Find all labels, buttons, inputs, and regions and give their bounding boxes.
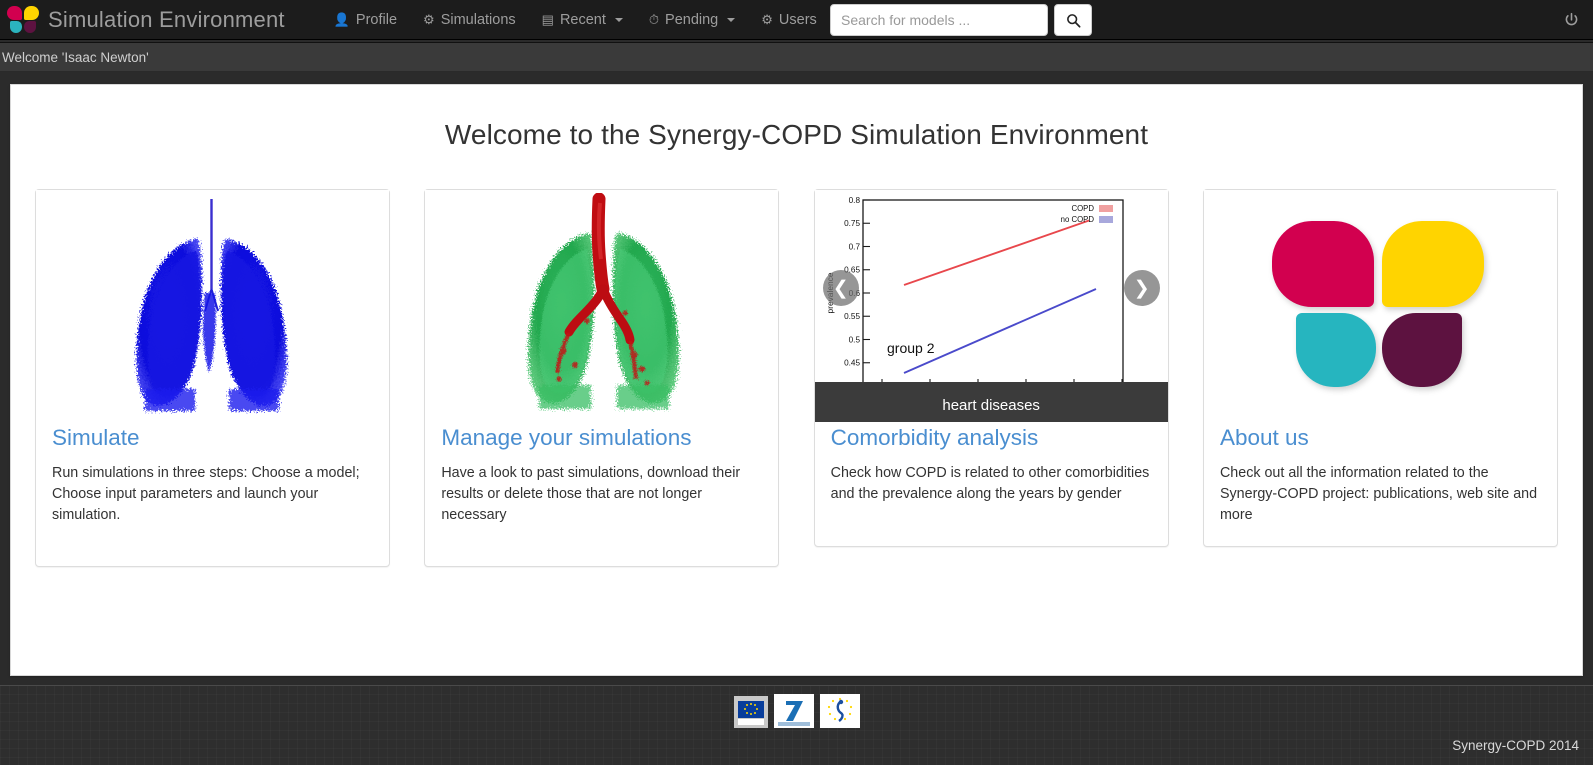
logo-petal-teal — [1296, 313, 1376, 387]
main-content-panel: Welcome to the Synergy-COPD Simulation E… — [10, 84, 1583, 676]
logo-petal-yellow — [1382, 221, 1484, 307]
card-manage-simulations[interactable]: Manage your simulations Have a look to p… — [424, 189, 779, 567]
card-manage-simulations-body: Manage your simulations Have a look to p… — [425, 422, 778, 526]
card-manage-simulations-text: Have a look to past simulations, downloa… — [441, 463, 762, 526]
logout-power-button[interactable] — [1559, 8, 1583, 32]
welcome-subbar: Welcome 'Isaac Newton' — [0, 42, 1593, 72]
nav-item-recent[interactable]: ▤ Recent — [529, 2, 636, 38]
list-icon: ▤ — [542, 13, 554, 26]
nav-item-simulations-label: Simulations — [441, 12, 516, 28]
welcome-text: Welcome 'Isaac Newton' — [0, 50, 149, 65]
page-title: Welcome to the Synergy-COPD Simulation E… — [11, 85, 1582, 151]
card-simulate-media — [36, 190, 389, 422]
logo-petal-maroon — [1382, 313, 1462, 387]
chevron-down-icon — [615, 18, 623, 22]
svg-text:COPD: COPD — [1071, 204, 1094, 213]
nav-item-pending[interactable]: ⏱ Pending — [636, 2, 748, 38]
power-off-icon — [1563, 12, 1580, 29]
card-about-us-text: Check out all the information related to… — [1220, 463, 1541, 526]
eu-flag-icon — [734, 696, 768, 728]
chevron-down-icon — [727, 18, 735, 22]
logo-petal-yellow — [24, 6, 39, 20]
brand-logo-icon[interactable] — [6, 5, 40, 35]
fp7-icon — [774, 694, 814, 728]
feature-cards-row: Simulate Run simulations in three steps:… — [11, 189, 1582, 567]
logo-petal-teal — [10, 21, 22, 33]
fp7-seventh-framework-programme-logo[interactable] — [774, 694, 814, 728]
chevron-right-icon: ❯ — [1134, 277, 1150, 300]
card-manage-simulations-media — [425, 190, 778, 422]
page-footer: Synergy-COPD 2014 — [0, 685, 1593, 765]
card-about-us-title[interactable]: About us — [1220, 426, 1541, 451]
search-button[interactable] — [1054, 4, 1092, 36]
card-comorbidity-analysis-text: Check how COPD is related to other comor… — [831, 463, 1152, 505]
carousel-next-button[interactable]: ❯ — [1124, 270, 1160, 306]
card-about-us-media — [1204, 190, 1557, 422]
user-icon: 👤 — [334, 13, 350, 26]
synergy-copd-project-logo[interactable] — [820, 694, 860, 728]
search-form — [830, 4, 1092, 36]
main-nav: 👤 Profile ⚙ Simulations ▤ Recent ⏱ Pendi… — [321, 2, 830, 38]
card-comorbidity-analysis[interactable]: 0.8 0.75 0.7 0.65 0.6 0.55 0.5 0.45 0.4 … — [814, 189, 1169, 547]
gear-icon: ⚙ — [423, 13, 435, 26]
svg-text:0.55: 0.55 — [844, 312, 860, 321]
green-red-lung-vasculature-icon — [499, 193, 704, 419]
carousel-caption: heart diseases — [815, 397, 1168, 414]
card-about-us-body: About us Check out all the information r… — [1204, 422, 1557, 526]
logo-petal-maroon — [24, 21, 36, 33]
nav-item-pending-label: Pending — [665, 12, 718, 28]
carousel-prev-button[interactable]: ❮ — [823, 270, 859, 306]
search-input[interactable] — [830, 4, 1048, 36]
search-icon — [1066, 13, 1081, 28]
logo-petal-magenta — [7, 6, 22, 20]
synergy-project-icon — [820, 694, 860, 728]
synergy-copd-flower-logo-icon — [1270, 219, 1490, 394]
svg-text:0.8: 0.8 — [848, 196, 860, 205]
logo-petal-magenta — [1272, 221, 1374, 307]
comorbidity-carousel: 0.8 0.75 0.7 0.65 0.6 0.55 0.5 0.45 0.4 … — [815, 190, 1168, 422]
blue-lung-bronchial-tree-icon — [105, 193, 320, 419]
chevron-left-icon: ❮ — [833, 277, 849, 300]
nav-item-recent-label: Recent — [560, 12, 606, 28]
svg-text:0.5: 0.5 — [848, 336, 860, 345]
nav-item-users[interactable]: ⚙ Users — [748, 2, 830, 38]
european-union-flag-logo[interactable] — [734, 696, 768, 728]
card-simulate-text: Run simulations in three steps: Choose a… — [52, 463, 373, 526]
footer-copyright: Synergy-COPD 2014 — [1452, 738, 1579, 753]
gear-icon: ⚙ — [761, 13, 773, 26]
svg-text:no COPD: no COPD — [1060, 215, 1094, 224]
card-simulate[interactable]: Simulate Run simulations in three steps:… — [35, 189, 390, 567]
nav-item-profile[interactable]: 👤 Profile — [321, 2, 410, 38]
top-navbar: Simulation Environment 👤 Profile ⚙ Simul… — [0, 0, 1593, 40]
card-simulate-body: Simulate Run simulations in three steps:… — [36, 422, 389, 526]
card-comorbidity-analysis-body: Comorbidity analysis Check how COPD is r… — [815, 422, 1168, 505]
svg-text:0.45: 0.45 — [844, 359, 860, 368]
card-simulate-title[interactable]: Simulate — [52, 426, 373, 451]
card-comorbidity-analysis-title[interactable]: Comorbidity analysis — [831, 426, 1152, 451]
brand-title[interactable]: Simulation Environment — [48, 7, 285, 33]
card-manage-simulations-title[interactable]: Manage your simulations — [441, 426, 762, 451]
nav-item-simulations[interactable]: ⚙ Simulations — [410, 2, 529, 38]
svg-text:0.75: 0.75 — [844, 219, 860, 228]
nav-item-profile-label: Profile — [356, 12, 397, 28]
footer-logos — [734, 694, 860, 728]
card-about-us[interactable]: About us Check out all the information r… — [1203, 189, 1558, 547]
svg-text:0.7: 0.7 — [848, 243, 860, 252]
nav-item-users-label: Users — [779, 12, 817, 28]
clock-icon: ⏱ — [649, 13, 659, 26]
svg-text:group 2: group 2 — [887, 340, 935, 356]
